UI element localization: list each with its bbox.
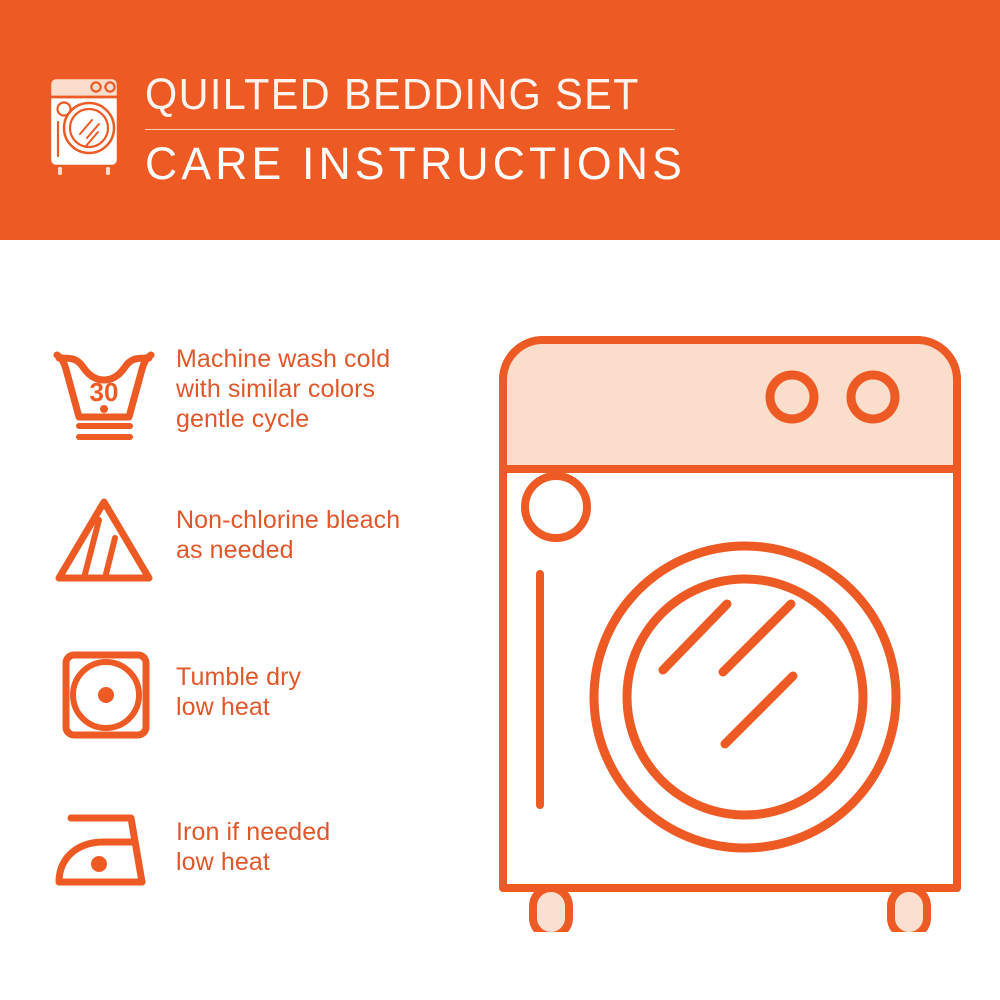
care-line: gentle cycle	[176, 404, 390, 434]
page-title: QUILTED BEDDING SET	[145, 70, 671, 120]
care-line: Non-chlorine bleach	[176, 505, 400, 535]
care-text-tumble-dry: Tumble dry low heat	[176, 640, 301, 722]
tumble-dry-low-heat-icon	[44, 640, 164, 750]
care-line: as needed	[176, 535, 400, 565]
care-text-iron: Iron if needed low heat	[176, 795, 330, 877]
care-line: Tumble dry	[176, 662, 301, 692]
care-text-bleach: Non-chlorine bleach as needed	[176, 485, 400, 565]
machine-leg-left	[533, 888, 569, 932]
care-row-bleach: Non-chlorine bleach as needed	[0, 485, 470, 595]
washing-machine-logo-icon	[44, 72, 128, 178]
machine-wash-30-gentle-icon: 30	[44, 340, 164, 450]
care-instructions-infographic: QUILTED BEDDING SET CARE INSTRUCTIONS 30	[0, 0, 1000, 1000]
care-line: Machine wash cold	[176, 344, 390, 374]
header-titles: QUILTED BEDDING SET CARE INSTRUCTIONS	[145, 70, 705, 190]
care-row-tumble-dry: Tumble dry low heat	[0, 640, 470, 750]
care-line: Iron if needed	[176, 817, 330, 847]
non-chlorine-bleach-triangle-icon	[44, 485, 164, 595]
page-subtitle: CARE INSTRUCTIONS	[145, 138, 699, 190]
care-line: low heat	[176, 692, 301, 722]
care-row-iron: Iron if needed low heat	[0, 795, 470, 905]
care-line: low heat	[176, 847, 330, 877]
care-line: with similar colors	[176, 374, 390, 404]
care-row-machine-wash: 30 Machine wash cold with similar colors…	[0, 340, 470, 450]
care-text-machine-wash: Machine wash cold with similar colors ge…	[176, 340, 390, 434]
wash-temperature-value: 30	[90, 377, 119, 407]
iron-low-heat-icon	[44, 795, 164, 905]
title-divider	[145, 129, 675, 130]
washing-machine-illustration	[495, 332, 965, 932]
header-band: QUILTED BEDDING SET CARE INSTRUCTIONS	[0, 0, 1000, 240]
machine-leg-right	[891, 888, 927, 932]
